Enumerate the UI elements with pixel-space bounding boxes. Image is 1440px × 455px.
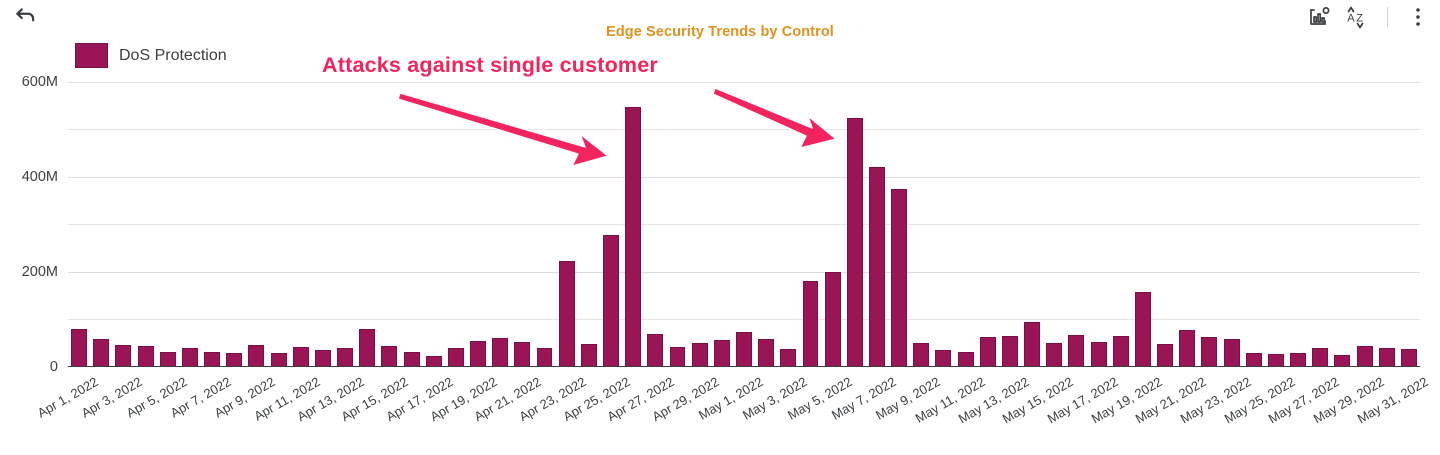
bar[interactable] <box>470 341 486 367</box>
bar[interactable] <box>1002 336 1018 367</box>
bar[interactable] <box>1024 322 1040 367</box>
y-axis-tick-label: 600M <box>0 74 58 90</box>
bar[interactable] <box>514 342 530 367</box>
bar[interactable] <box>1312 348 1328 367</box>
bar[interactable] <box>692 343 708 367</box>
bar[interactable] <box>803 281 819 367</box>
y-axis-tick-label: 200M <box>0 264 58 280</box>
bar[interactable] <box>935 350 951 367</box>
chart-title: Edge Security Trends by Control <box>0 24 1440 40</box>
bar[interactable] <box>1157 344 1173 367</box>
bar[interactable] <box>1201 337 1217 367</box>
legend-label-dos-protection: DoS Protection <box>119 47 227 65</box>
legend-swatch-dos-protection <box>75 43 108 68</box>
bar[interactable] <box>115 345 131 367</box>
bar[interactable] <box>559 261 575 367</box>
bar-series-dos-protection[interactable] <box>68 72 1420 367</box>
bar[interactable] <box>337 348 353 367</box>
bar[interactable] <box>1068 335 1084 367</box>
annotation-label: Attacks against single customer <box>322 53 658 78</box>
chart-legend[interactable]: DoS Protection <box>75 43 227 68</box>
bar[interactable] <box>758 339 774 367</box>
bar[interactable] <box>138 346 154 367</box>
bar[interactable] <box>71 329 87 367</box>
bar[interactable] <box>1379 348 1395 367</box>
bar[interactable] <box>780 349 796 367</box>
bar[interactable] <box>537 348 553 367</box>
bar[interactable] <box>492 338 508 367</box>
bar[interactable] <box>1046 343 1062 367</box>
bar[interactable] <box>714 340 730 367</box>
bar[interactable] <box>847 118 863 367</box>
bar[interactable] <box>913 343 929 367</box>
bar[interactable] <box>381 346 397 367</box>
plot-area <box>68 72 1420 367</box>
bar[interactable] <box>825 272 841 367</box>
bar[interactable] <box>182 348 198 368</box>
bar[interactable] <box>869 167 885 367</box>
bar[interactable] <box>248 345 264 367</box>
bar[interactable] <box>736 332 752 367</box>
y-axis-tick-label: 0 <box>0 359 58 375</box>
x-axis-labels: Apr 1, 2022Apr 3, 2022Apr 5, 2022Apr 7, … <box>68 370 1420 455</box>
bar[interactable] <box>1357 346 1373 367</box>
bar[interactable] <box>1401 349 1417 367</box>
bar[interactable] <box>93 339 109 367</box>
bar[interactable] <box>647 334 663 367</box>
bar[interactable] <box>448 348 464 367</box>
svg-text:A: A <box>1347 13 1355 25</box>
bar[interactable] <box>670 347 686 367</box>
bar[interactable] <box>1224 339 1240 367</box>
bar[interactable] <box>980 337 996 367</box>
bar[interactable] <box>1091 342 1107 367</box>
x-axis-line <box>68 366 1420 368</box>
bar[interactable] <box>359 329 375 367</box>
bar[interactable] <box>1135 292 1151 367</box>
y-axis-tick-label: 400M <box>0 169 58 185</box>
bar[interactable] <box>581 344 597 367</box>
bar[interactable] <box>625 107 641 367</box>
bar[interactable] <box>891 189 907 367</box>
bar[interactable] <box>293 347 309 367</box>
bar[interactable] <box>1113 336 1129 367</box>
bar[interactable] <box>315 350 331 367</box>
bar[interactable] <box>603 235 619 367</box>
bar[interactable] <box>1179 330 1195 367</box>
